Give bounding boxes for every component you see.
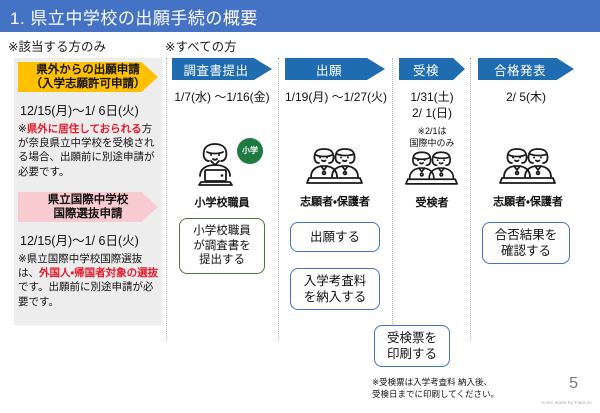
action-line-1: 入学考査料: [304, 273, 367, 289]
column-subnote-examination: ※2/1は 国際中のみ: [399, 126, 465, 149]
separator-col2-col3: [392, 58, 393, 340]
teacher-at-laptop-icon: 小学: [191, 142, 253, 193]
action-box-apply[interactable]: 出願する: [290, 222, 380, 252]
slide-title-bar: 1. 県立中学校の出願手続の概要: [0, 0, 600, 32]
desc-highlight: 外国人・帰国者対象の選抜: [39, 267, 158, 279]
international-selection-description: ※県立国際中学校国際選抜は、外国人・帰国者対象の選抜です。出願前に別途申請が必要…: [18, 252, 160, 309]
action-line-1: 小学校職員: [193, 224, 251, 239]
column-dates-application: 1/19(月) ～1/27(火): [285, 89, 385, 105]
actor-caption: 志願者・保護者: [493, 193, 563, 209]
desc-rest: です。出願前に別途申請が必要です。: [18, 281, 153, 307]
subnote-line-2: 国際中のみ: [399, 138, 465, 150]
action-box-submit-survey[interactable]: 小学校職員 が調査書を 提出する: [179, 218, 265, 274]
flow-column-application: 出願 1/19(月) ～1/27(火): [285, 58, 385, 105]
column-header-results-announcement: 合格発表: [478, 58, 574, 80]
separator-col3-col4: [470, 58, 471, 340]
subnote-line-1: ※2/1は: [399, 126, 465, 138]
page-number: 5: [569, 375, 578, 393]
badge-label: 小学: [242, 147, 258, 155]
column-header-label: 受検: [413, 60, 451, 79]
column-header-survey-submission: 調査書提出: [172, 58, 272, 80]
out-of-prefecture-description: ※県外に居住しておられる方が奈良県立中学校を受検される場合、出願前に別途申請が必…: [18, 122, 160, 179]
banner-line-1: 県立国際中学校: [48, 193, 129, 207]
international-selection-dates: 12/15(月)～1/ 6日(火): [20, 230, 139, 249]
action-line-2: 確認する: [495, 243, 558, 259]
action-line-2: を納入する: [304, 289, 367, 305]
banner-line-1: 県外からの出願申請: [31, 63, 146, 77]
dates-line-2: 2/ 1(日): [399, 105, 465, 121]
examinee-icon: [405, 150, 459, 193]
footer-note-line-1: ※受検票は入学考査料 納入後、: [372, 377, 557, 389]
column-header-application: 出願: [285, 58, 385, 80]
action-line-1: 出願する: [310, 229, 360, 245]
dates-line-1: 1/31(土): [399, 89, 465, 105]
page-title: 1. 県立中学校の出願手続の概要: [0, 4, 258, 29]
separator-col1-col2: [278, 58, 279, 340]
actor-elementary-school-staff: 小学 小学校職員: [172, 142, 272, 210]
actor-caption: 志願者・保護者: [300, 193, 370, 209]
applicant-and-guardian-icon: [499, 147, 557, 192]
action-line-2: が調査書を: [193, 239, 251, 254]
action-line-3: 提出する: [193, 253, 251, 268]
separator-optional-vs-flow: [166, 58, 167, 340]
elementary-school-badge: 小学: [237, 138, 263, 164]
action-line-2: 印刷する: [387, 346, 437, 362]
actor-applicant-and-guardian-application: 志願者・保護者: [285, 147, 385, 209]
actor-applicant-and-guardian-results: 志願者・保護者: [478, 147, 578, 209]
flow-column-survey-submission: 調査書提出 1/7(水) ～1/16(金): [172, 58, 272, 105]
desc-highlight: 県外に居住しておられる: [27, 123, 142, 135]
column-dates-results-announcement: 2/ 5(木): [478, 89, 574, 105]
note-all-column: ※すべての方: [165, 36, 237, 55]
action-box-pay-examination-fee[interactable]: 入学考査料 を納入する: [290, 268, 380, 310]
column-dates-survey-submission: 1/7(水) ～1/16(金): [172, 89, 272, 105]
flow-column-results-announcement: 合格発表 2/ 5(木): [478, 58, 574, 105]
action-line-1: 受検票を: [387, 330, 437, 346]
banner-international-selection-application: 県立国際中学校 国際選抜申請: [18, 192, 158, 222]
banner-line-2: 国際選抜申請: [48, 207, 129, 221]
action-box-check-results[interactable]: 合否結果を 確認する: [482, 222, 570, 264]
banner-line-2: （入学志願許可申請）: [31, 77, 146, 91]
icon-attribution: Icons made by Flaticon: [541, 400, 592, 405]
desc-prefix: ※: [18, 123, 27, 135]
note-optional-column: ※該当する方のみ: [8, 36, 106, 55]
column-header-label: 調査書提出: [183, 60, 260, 79]
action-line-1: 合否結果を: [495, 227, 558, 243]
column-header-examination: 受検: [399, 58, 465, 80]
applicant-and-guardian-icon: [306, 147, 364, 192]
actor-caption: 小学校職員: [195, 194, 250, 210]
footer-note-line-2: 受検日までに印刷してください。: [372, 389, 557, 401]
column-dates-examination: 1/31(土) 2/ 1(日): [399, 89, 465, 121]
footer-note: ※受検票は入学考査料 納入後、 受検日までに印刷してください。: [372, 377, 557, 401]
actor-caption: 受検者: [416, 194, 449, 210]
out-of-prefecture-dates: 12/15(月)～1/ 6日(火): [20, 100, 139, 119]
banner-out-of-prefecture-application: 県外からの出願申請 （入学志願許可申請）: [18, 62, 158, 92]
column-header-label: 合格発表: [494, 60, 558, 79]
flow-column-examination: 受検 1/31(土) 2/ 1(日) ※2/1は 国際中のみ: [399, 58, 465, 150]
action-box-print-exam-ticket[interactable]: 受検票を 印刷する: [374, 325, 450, 367]
column-header-label: 出願: [316, 60, 354, 79]
actor-examinee: 受検者: [399, 150, 465, 210]
